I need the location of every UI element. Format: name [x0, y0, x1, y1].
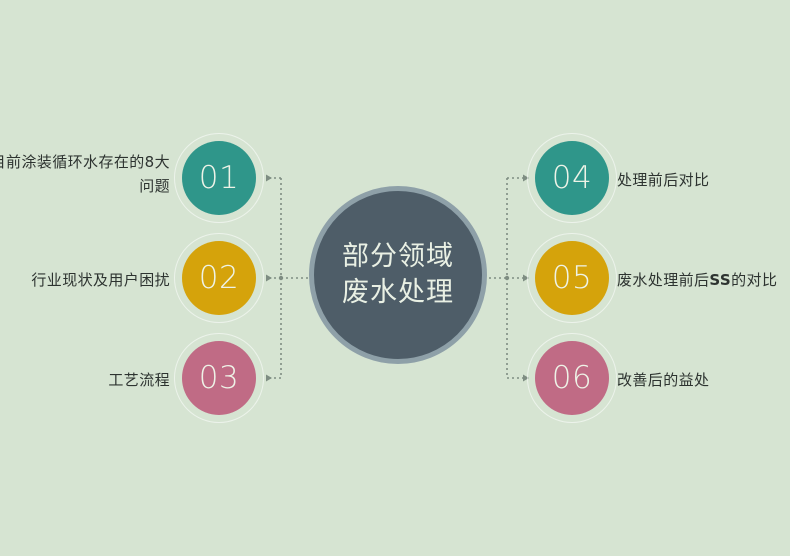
node-circle-05[interactable]: 05: [535, 241, 609, 315]
node-label-06: 改善后的益处: [617, 368, 790, 392]
node-label-03: 工艺流程: [0, 368, 170, 392]
node-circle-04[interactable]: 04: [535, 141, 609, 215]
node-number-01: 01: [199, 163, 239, 194]
node-number-06: 06: [552, 363, 592, 394]
node-circle-02[interactable]: 02: [182, 241, 256, 315]
center-topic-circle[interactable]: 部分领域废水处理: [309, 186, 487, 364]
node-circle-03[interactable]: 03: [182, 341, 256, 415]
node-circle-01[interactable]: 01: [182, 141, 256, 215]
node-label-02: 行业现状及用户困扰: [0, 268, 170, 292]
node-number-05: 05: [552, 263, 592, 294]
node-label-04: 处理前后对比: [617, 168, 790, 192]
node-label-01: 目前涂装循环水存在的8大问题: [0, 150, 170, 199]
node-number-03: 03: [199, 363, 239, 394]
node-number-04: 04: [552, 163, 592, 194]
node-circle-06[interactable]: 06: [535, 341, 609, 415]
diagram-canvas: 部分领域废水处理 01 目前涂装循环水存在的8大问题 02 行业现状及用户困扰 …: [0, 0, 790, 556]
right-connector-group: [489, 178, 524, 378]
node-number-02: 02: [199, 263, 239, 294]
node-label-05: 废水处理前后SS的对比: [617, 268, 790, 292]
right-junction-dot: [505, 276, 509, 280]
center-topic-label: 部分领域废水处理: [339, 239, 457, 310]
left-connector-group: [266, 178, 308, 378]
left-junction-dot: [279, 276, 283, 280]
